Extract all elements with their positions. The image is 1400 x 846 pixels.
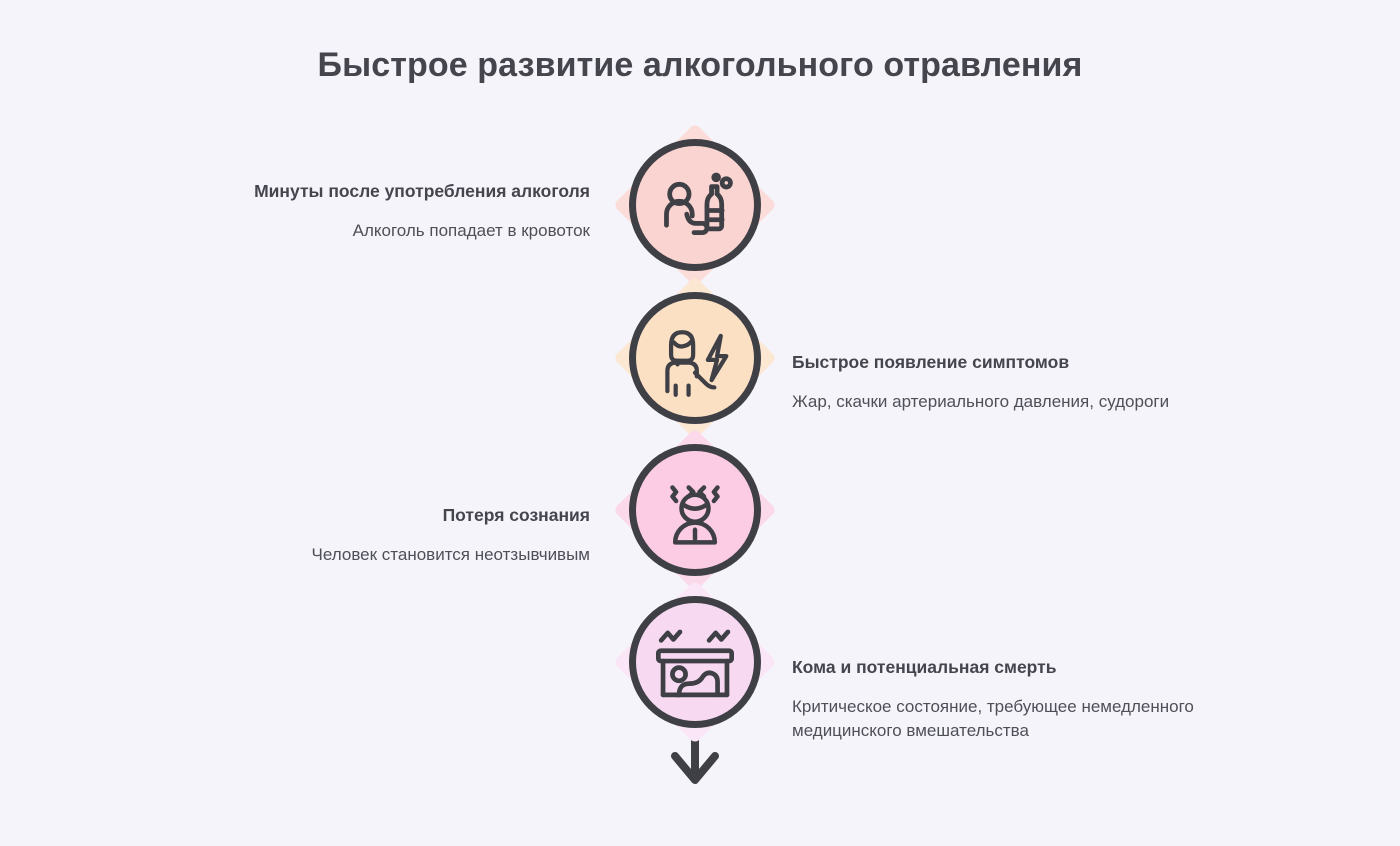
step-icon-circle-3 — [629, 444, 761, 576]
step-description-3: Человек становится неотзывчивым — [160, 543, 590, 568]
step-label-3: Потеря сознания Человек становится неотз… — [160, 503, 590, 567]
step-icon-circle-1 — [629, 139, 761, 271]
step-description-4: Критическое состояние, требующее немедле… — [792, 695, 1222, 744]
step-title-3: Потеря сознания — [160, 503, 590, 528]
step-icon-circle-4 — [629, 596, 761, 728]
timeline-node-4[interactable] — [625, 592, 765, 732]
step-title-2: Быстрое появление симптомов — [792, 350, 1244, 375]
step-label-1: Минуты после употребления алкоголя Алког… — [160, 179, 590, 243]
person-with-bottle-icon — [649, 159, 741, 251]
timeline-node-3[interactable] — [625, 440, 765, 580]
unconscious-person-icon — [650, 465, 740, 555]
person-with-lightning-icon — [649, 312, 741, 404]
timeline-node-2[interactable] — [625, 288, 765, 428]
timeline-diagram: Минуты после употребления алкоголя Алког… — [0, 0, 1400, 846]
step-description-2: Жар, скачки артериального давления, судо… — [792, 390, 1244, 415]
step-label-4: Кома и потенциальная смерть Критическое … — [792, 655, 1222, 744]
step-label-2: Быстрое появление симптомов Жар, скачки … — [792, 350, 1244, 414]
step-icon-circle-2 — [629, 292, 761, 424]
hospital-bed-icon — [648, 615, 742, 709]
arrow-down-icon — [671, 752, 719, 786]
step-title-1: Минуты после употребления алкоголя — [160, 179, 590, 204]
step-title-4: Кома и потенциальная смерть — [792, 655, 1222, 680]
timeline-node-1[interactable] — [625, 135, 765, 275]
step-description-1: Алкоголь попадает в кровоток — [160, 219, 590, 244]
